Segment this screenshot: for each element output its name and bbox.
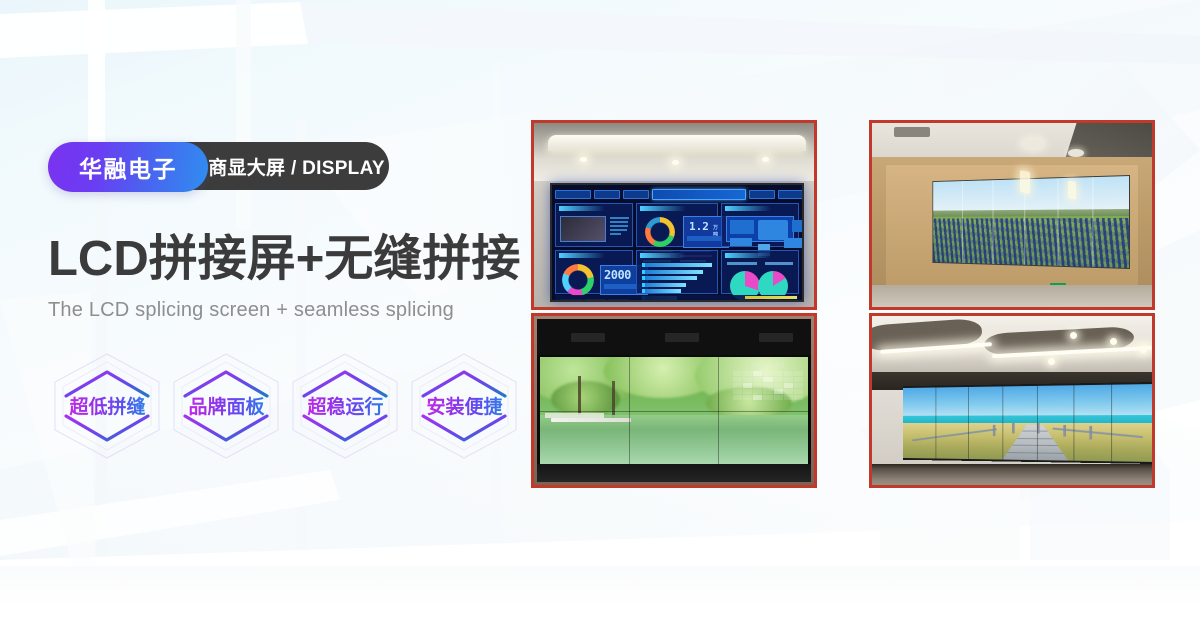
feature-hexagon-label-2: 品牌面板 xyxy=(188,392,264,419)
dashboard-big-number-2: 1.2 xyxy=(689,220,709,233)
banner-stage: 商显大屏 / DISPLAY 华融电子 LCD拼接屏+无缝拼接 The LCD … xyxy=(0,0,1200,640)
feature-hexagon-2: 品牌面板 xyxy=(167,350,286,462)
banner-text-column: 商显大屏 / DISPLAY 华融电子 LCD拼接屏+无缝拼接 The LCD … xyxy=(48,142,548,462)
solar-wall-screen xyxy=(932,175,1130,269)
brand-badge: 华融电子 xyxy=(48,142,208,192)
willow-pond-videowall-photo[interactable]: 2021 6月 xyxy=(531,313,817,488)
pond-wall-screen: 2021 6月 xyxy=(540,357,808,464)
feature-hexagon-4: 安装便捷 xyxy=(405,350,524,462)
beach-boardwalk-videowall-photo[interactable] xyxy=(869,313,1155,488)
feature-hexagon-1: 超低拼缝 xyxy=(48,350,167,462)
dashboard-big-number: 2000 xyxy=(604,268,631,282)
brand-badge-label: 华融电子 xyxy=(79,150,177,184)
solar-farm-videowall-photo[interactable] xyxy=(869,120,1155,310)
beach-wall-screen xyxy=(903,382,1152,464)
feature-hexagon-label-3: 超稳运行 xyxy=(307,392,383,419)
background-bottom-band xyxy=(0,566,1200,640)
dashboard-screen: 1.2 万吨 xyxy=(550,183,804,302)
dashboard-command-center-photo[interactable]: 1.2 万吨 xyxy=(531,120,817,310)
category-badge-label: 商显大屏 / DISPLAY xyxy=(208,153,385,180)
brand-badge-row: 商显大屏 / DISPLAY 华融电子 xyxy=(48,142,389,192)
feature-hexagon-label-1: 超低拼缝 xyxy=(69,392,145,419)
feature-hexagon-label-4: 安装便捷 xyxy=(426,392,502,419)
feature-hexagon-row: 超低拼缝 品牌面板 xyxy=(48,350,548,462)
banner-subtitle: The LCD splicing screen + seamless splic… xyxy=(48,299,548,322)
feature-hexagon-3: 超稳运行 xyxy=(286,350,405,462)
calendar-overlay: 2021 6月 xyxy=(733,362,803,412)
banner-title: LCD拼接屏+无缝拼接 xyxy=(48,234,548,286)
